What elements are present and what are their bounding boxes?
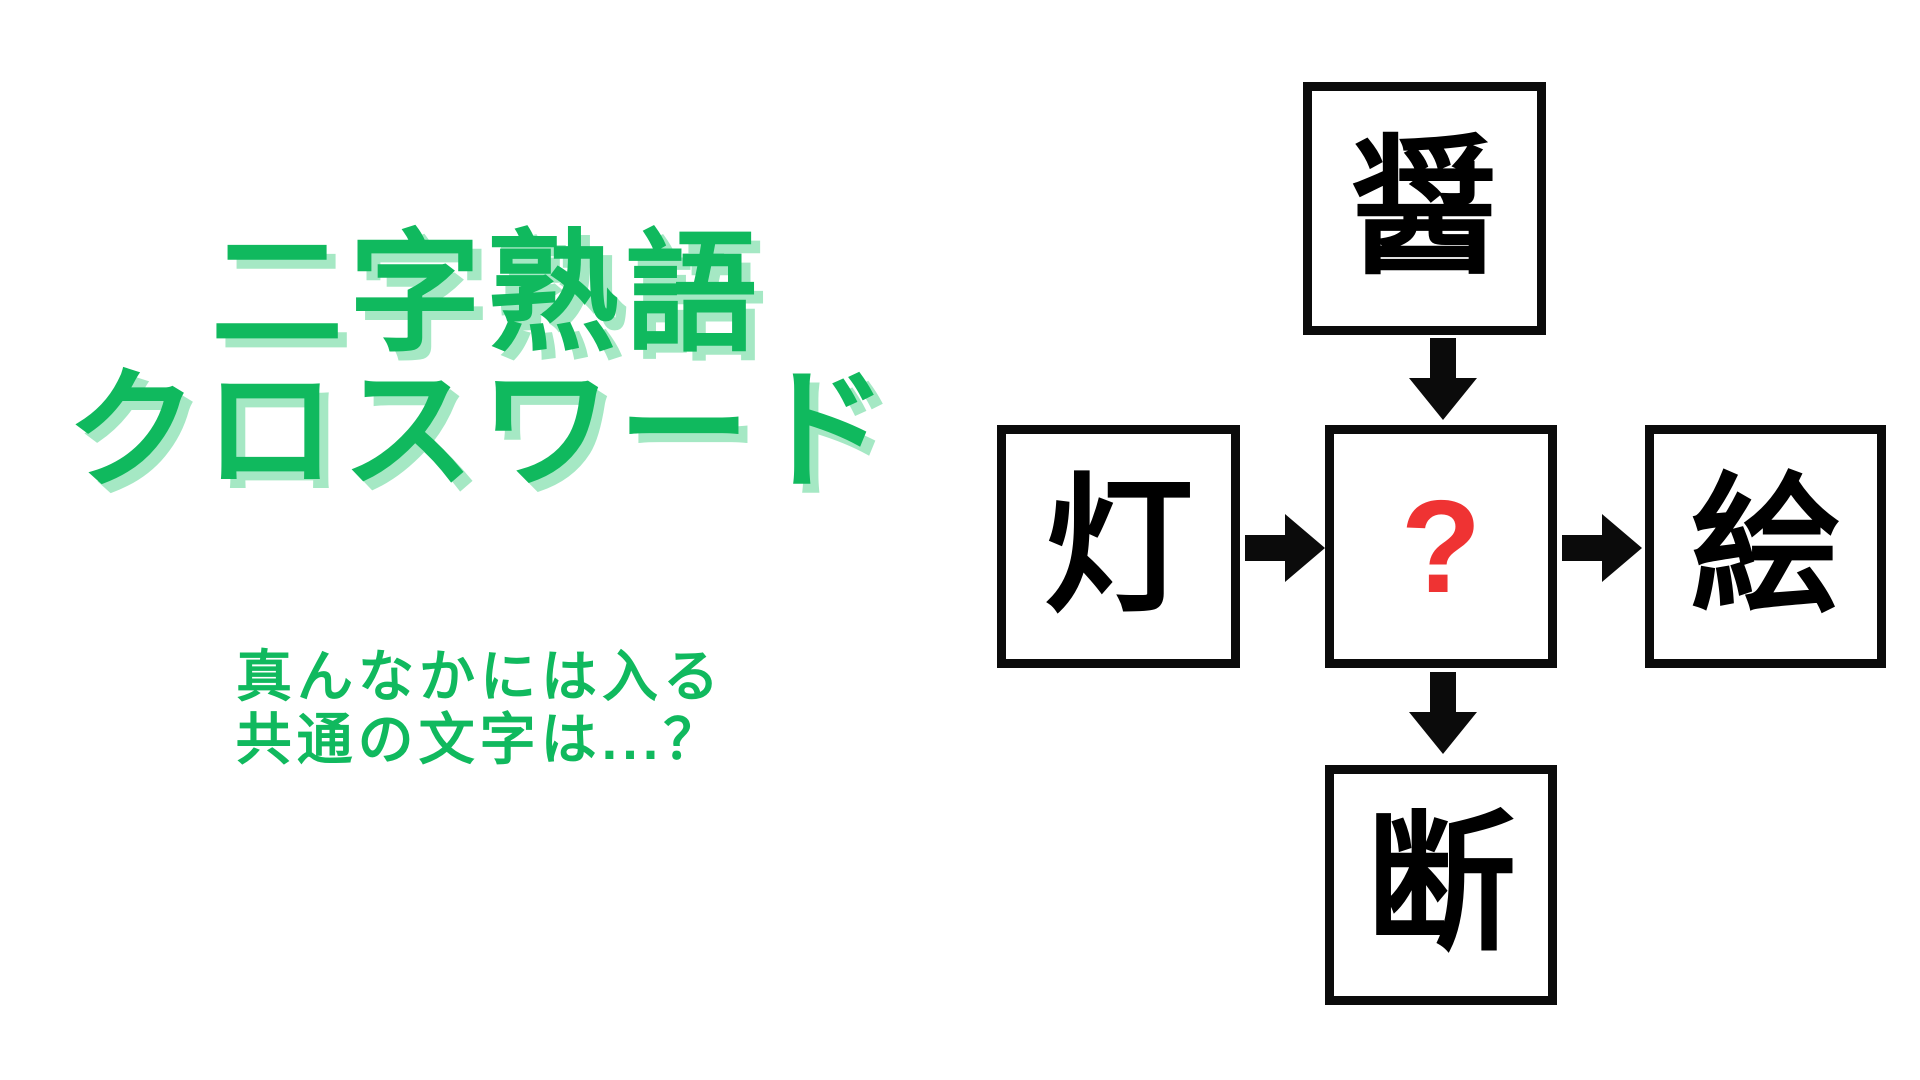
puzzle-cell-left: 灯 xyxy=(997,425,1240,668)
puzzle-cell-top: 醤 xyxy=(1303,82,1546,335)
crossword-diagram: 醤 灯 ? 絵 断 xyxy=(0,0,1920,1080)
puzzle-cell-top-glyph: 醤 xyxy=(1349,134,1499,284)
puzzle-cell-right-glyph: 絵 xyxy=(1690,472,1840,622)
puzzle-cell-right: 絵 xyxy=(1645,425,1886,668)
puzzle-cell-bottom-glyph: 断 xyxy=(1366,810,1516,960)
puzzle-cell-center-question-mark: ? xyxy=(1401,481,1482,613)
arrow-right-icon-center-to-right xyxy=(1562,508,1644,588)
puzzle-cell-left-glyph: 灯 xyxy=(1043,472,1193,622)
arrow-right-icon-left-to-center xyxy=(1245,508,1327,588)
puzzle-cell-center-answer[interactable]: ? xyxy=(1325,425,1557,668)
arrow-down-icon-top-to-center xyxy=(1403,338,1483,422)
puzzle-cell-bottom: 断 xyxy=(1325,765,1557,1005)
arrow-down-icon-center-to-bottom xyxy=(1403,672,1483,756)
slide-canvas: 二字熟語 クロスワード 真んなかには入る 共通の文字は...？ 醤 灯 ? 絵 … xyxy=(0,0,1920,1080)
